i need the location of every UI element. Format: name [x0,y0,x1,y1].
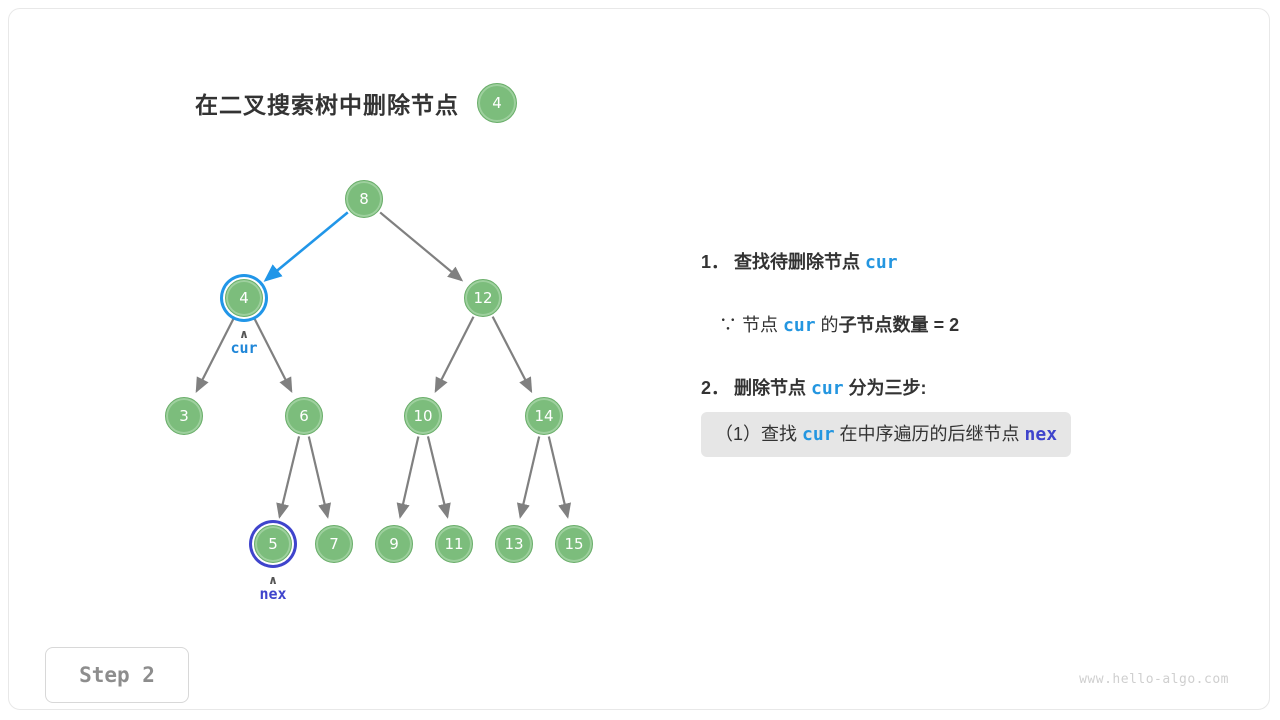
tree-edge [254,317,292,391]
tree-node-11: 11 [435,525,473,563]
pointer-label-nex: ∧nex [259,575,286,603]
line2-child-count-label: 子节点数量 [839,315,929,335]
panel-line-4-highlight: （1）查找 cur 在中序遍历的后继节点 nex [701,412,1071,457]
tree-node-9: 9 [375,525,413,563]
explanation-panel: 1． 查找待删除节点 cur ∵ 节点 cur 的子节点数量 = 2 2． 删除… [701,249,1231,457]
tree-edge [309,436,328,516]
title-row: 在二叉搜索树中删除节点 4 [195,83,517,123]
line3-text-2: 分为三步: [844,378,927,398]
line2-cur-code: cur [783,315,816,336]
line2-child-count-value: 2 [949,315,959,335]
line4-text-1: （1）查找 [715,424,802,444]
pointer-label-cur: ∧cur [230,329,257,357]
panel-line-1: 1． 查找待删除节点 cur [701,249,1231,276]
tree-edge [436,317,474,391]
tree-node-8: 8 [345,180,383,218]
tree-node-5: 5 [254,525,292,563]
watermark: www.hello-algo.com [1079,672,1229,687]
caret-icon: ∧ [230,329,257,339]
tree-edge [428,436,447,516]
diagram-card: 在二叉搜索树中删除节点 4 8412361014579111315∧cur∧ne… [8,8,1270,710]
panel-line-2: ∵ 节点 cur 的子节点数量 = 2 [701,312,1231,339]
because-symbol: ∵ [719,315,742,335]
tree-edge [493,317,531,391]
line3-cur-code: cur [811,378,844,399]
tree-edge [520,436,539,516]
line4-nex-code: nex [1025,424,1058,445]
page-title: 在二叉搜索树中删除节点 [195,86,459,120]
line3-text-1: 2． 删除节点 [701,378,811,398]
line2-text-1: 节点 [742,315,783,335]
tree-edge [280,436,299,516]
line4-text-2: 在中序遍历的后继节点 [835,424,1025,444]
tree-edge [549,436,568,516]
pointer-text: cur [230,339,257,357]
line2-equals: = [929,315,950,335]
line1-text: 1． 查找待删除节点 [701,252,865,272]
step-badge: Step 2 [45,647,189,703]
line4-cur-code: cur [802,424,835,445]
tree-node-3: 3 [165,397,203,435]
tree-edge [266,212,348,280]
line1-cur-code: cur [865,252,898,273]
tree-node-6: 6 [285,397,323,435]
tree-node-15: 15 [555,525,593,563]
tree-node-7: 7 [315,525,353,563]
tree-edge [380,212,461,280]
title-node-badge: 4 [477,83,517,123]
tree-node-4: 4 [225,279,263,317]
tree-edge [197,317,235,391]
line2-text-2: 的 [816,315,839,335]
caret-icon: ∧ [259,575,286,585]
panel-line-3: 2． 删除节点 cur 分为三步: [701,375,1231,402]
tree-node-14: 14 [525,397,563,435]
pointer-text: nex [259,585,286,603]
tree-node-10: 10 [404,397,442,435]
tree-edge [400,436,418,516]
tree-node-13: 13 [495,525,533,563]
tree-node-12: 12 [464,279,502,317]
